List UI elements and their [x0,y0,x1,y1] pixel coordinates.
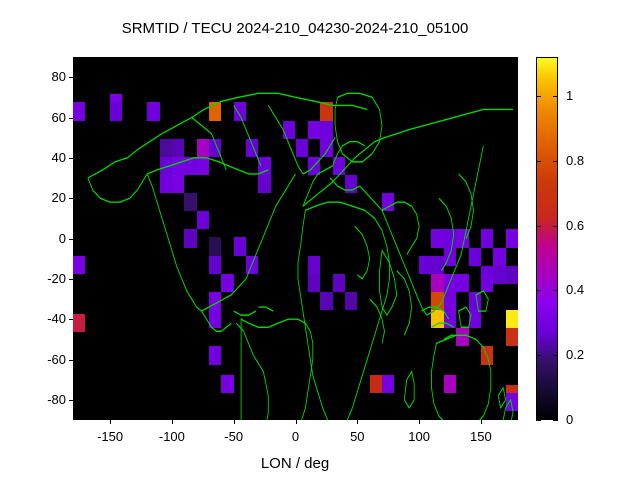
colorbar-tick-label: 1 [566,88,573,103]
colorbar-tick-mark [553,420,558,421]
x-tick-label: 100 [389,429,449,444]
colorbar-tick-mark [553,161,558,162]
y-tick-mark [69,158,73,159]
y-tick-mark [69,400,73,401]
page-title: SRMTID / TECU 2024-210_04230-2024-210_05… [0,20,590,37]
x-tick-mark [296,420,297,424]
colorbar-tick-mark [553,290,558,291]
x-tick-label: 150 [451,429,511,444]
colorbar-tick-label: 0 [566,412,573,427]
y-tick-mark [69,279,73,280]
colorbar-tick-mark [536,355,541,356]
x-tick-mark [357,420,358,424]
coastline-svg [73,57,518,420]
x-tick-label: -150 [80,429,140,444]
x-axis-label: LON / deg [0,455,590,472]
colorbar-tick-mark [536,420,541,421]
y-tick-label: -80 [20,392,66,407]
y-tick-label: 0 [20,231,66,246]
colorbar-tick-mark [536,226,541,227]
y-tick-mark [69,198,73,199]
x-tick-mark [172,420,173,424]
y-tick-mark [69,319,73,320]
colorbar-tick-mark [536,161,541,162]
x-tick-label: 50 [327,429,387,444]
colorbar-tick-label: 0.8 [566,153,584,168]
y-tick-label: -20 [20,271,66,286]
colorbar-tick-mark [553,226,558,227]
x-tick-label: -100 [142,429,202,444]
colorbar-tick-mark [553,96,558,97]
x-tick-mark [481,420,482,424]
y-tick-label: -40 [20,311,66,326]
figure-canvas: SRMTID / TECU 2024-210_04230-2024-210_05… [0,0,640,480]
y-tick-label: 60 [20,110,66,125]
y-tick-mark [69,118,73,119]
y-tick-label: -60 [20,352,66,367]
colorbar-tick-label: 0.4 [566,282,584,297]
colorbar-tick-label: 0.2 [566,347,584,362]
x-tick-label: -50 [204,429,264,444]
y-tick-mark [69,239,73,240]
colorbar-tick-label: 0.6 [566,218,584,233]
y-tick-label: 20 [20,190,66,205]
colorbar-tick-mark [553,355,558,356]
map-plot-area[interactable] [73,57,518,420]
y-tick-label: 80 [20,69,66,84]
y-tick-mark [69,77,73,78]
x-tick-mark [234,420,235,424]
x-tick-mark [419,420,420,424]
colorbar-tick-mark [536,290,541,291]
colorbar-gradient [537,58,557,419]
coastline-overlay [73,57,518,420]
y-tick-label: 40 [20,150,66,165]
y-tick-mark [69,360,73,361]
x-tick-mark [110,420,111,424]
colorbar-tick-mark [536,96,541,97]
x-tick-label: 0 [266,429,326,444]
colorbar[interactable] [536,57,558,420]
